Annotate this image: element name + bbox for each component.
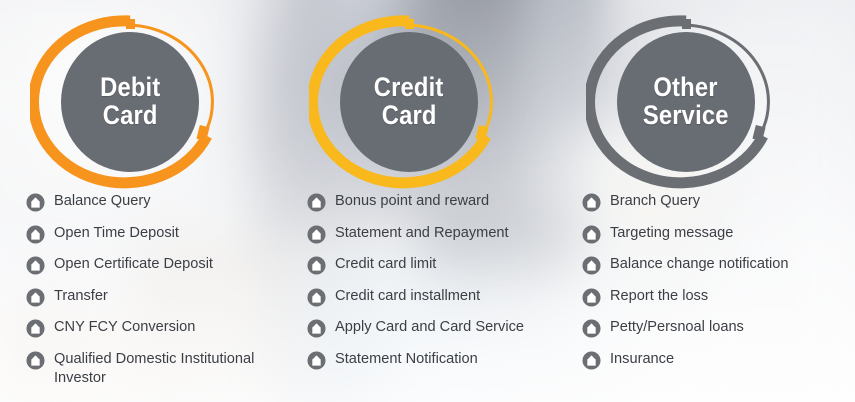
list-item-label: Petty/Persnoal loans	[610, 318, 744, 337]
home-up-arrow-icon	[582, 319, 601, 338]
list-item[interactable]: Petty/Persnoal loans	[582, 318, 849, 338]
badge-line-2: Card	[103, 102, 158, 130]
home-up-arrow-icon	[307, 225, 326, 244]
list-item-label: Statement and Repayment	[335, 224, 509, 243]
list-item[interactable]: Open Time Deposit	[26, 224, 279, 244]
home-up-arrow-icon	[307, 256, 326, 275]
badge-line-1: Other	[654, 74, 718, 102]
list-item-label: Report the loss	[610, 287, 708, 306]
list-item[interactable]: Balance Query	[26, 192, 279, 212]
list-item[interactable]: Insurance	[582, 350, 849, 370]
badge-line-2: Card	[382, 102, 437, 130]
badge-label-debit-card: Debit Card	[61, 32, 199, 172]
list-item[interactable]: Apply Card and Card Service	[307, 318, 564, 338]
list-item[interactable]: CNY FCY Conversion	[26, 318, 279, 338]
home-up-arrow-icon	[26, 193, 45, 212]
badge-other-service[interactable]: Other Service	[586, 12, 786, 192]
list-item[interactable]: Transfer	[26, 287, 279, 307]
infographic-canvas: Debit Card Balance Query Open Time Depos…	[0, 0, 855, 402]
list-item[interactable]: Statement and Repayment	[307, 224, 564, 244]
list-item-label: Bonus point and reward	[335, 192, 489, 211]
badge-label-credit-card: Credit Card	[340, 32, 478, 172]
home-up-arrow-icon	[582, 256, 601, 275]
service-list-other-service: Branch Query Targeting message Balance c…	[582, 192, 849, 381]
list-item-label: Credit card installment	[335, 287, 480, 306]
service-list-debit-card: Balance Query Open Time Deposit Open Cer…	[26, 192, 279, 399]
badge-line-2: Service	[643, 102, 729, 130]
service-column-debit-card: Debit Card Balance Query Open Time Depos…	[0, 0, 285, 402]
list-item[interactable]: Credit card installment	[307, 287, 564, 307]
home-up-arrow-icon	[582, 351, 601, 370]
list-item[interactable]: Open Certificate Deposit	[26, 255, 279, 275]
home-up-arrow-icon	[26, 319, 45, 338]
list-item-label: Transfer	[54, 287, 108, 306]
list-item-label: Insurance	[610, 350, 674, 369]
home-up-arrow-icon	[307, 351, 326, 370]
list-item[interactable]: Targeting message	[582, 224, 849, 244]
badge-credit-card[interactable]: Credit Card	[309, 12, 509, 192]
list-item-label: Credit card limit	[335, 255, 436, 274]
list-item-label: Branch Query	[610, 192, 700, 211]
list-item-label: CNY FCY Conversion	[54, 318, 195, 337]
home-up-arrow-icon	[582, 225, 601, 244]
list-item-label: Balance Query	[54, 192, 151, 211]
service-column-credit-card: Credit Card Bonus point and reward State…	[285, 0, 570, 402]
list-item[interactable]: Credit card limit	[307, 255, 564, 275]
list-item[interactable]: Report the loss	[582, 287, 849, 307]
service-columns: Debit Card Balance Query Open Time Depos…	[0, 0, 855, 402]
home-up-arrow-icon	[307, 319, 326, 338]
list-item[interactable]: Statement Notification	[307, 350, 564, 370]
list-item-label: Statement Notification	[335, 350, 478, 369]
badge-label-other-service: Other Service	[617, 32, 755, 172]
list-item-label: Apply Card and Card Service	[335, 318, 524, 337]
home-up-arrow-icon	[307, 288, 326, 307]
service-column-other-service: Other Service Branch Query Targeting mes…	[570, 0, 855, 402]
home-up-arrow-icon	[26, 256, 45, 275]
home-up-arrow-icon	[582, 288, 601, 307]
list-item-label: Targeting message	[610, 224, 733, 243]
badge-debit-card[interactable]: Debit Card	[30, 12, 230, 192]
home-up-arrow-icon	[26, 225, 45, 244]
home-up-arrow-icon	[307, 193, 326, 212]
home-up-arrow-icon	[26, 351, 45, 370]
badge-line-1: Credit	[374, 74, 444, 102]
home-up-arrow-icon	[26, 288, 45, 307]
service-list-credit-card: Bonus point and reward Statement and Rep…	[307, 192, 564, 381]
list-item[interactable]: Balance change notification	[582, 255, 849, 275]
list-item-label: Open Certificate Deposit	[54, 255, 213, 274]
list-item[interactable]: Bonus point and reward	[307, 192, 564, 212]
list-item[interactable]: Branch Query	[582, 192, 849, 212]
list-item[interactable]: Qualified Domestic Institutional Investo…	[26, 350, 279, 388]
badge-line-1: Debit	[100, 74, 160, 102]
list-item-label: Qualified Domestic Institutional Investo…	[54, 350, 279, 388]
list-item-label: Balance change notification	[610, 255, 789, 274]
home-up-arrow-icon	[582, 193, 601, 212]
list-item-label: Open Time Deposit	[54, 224, 179, 243]
